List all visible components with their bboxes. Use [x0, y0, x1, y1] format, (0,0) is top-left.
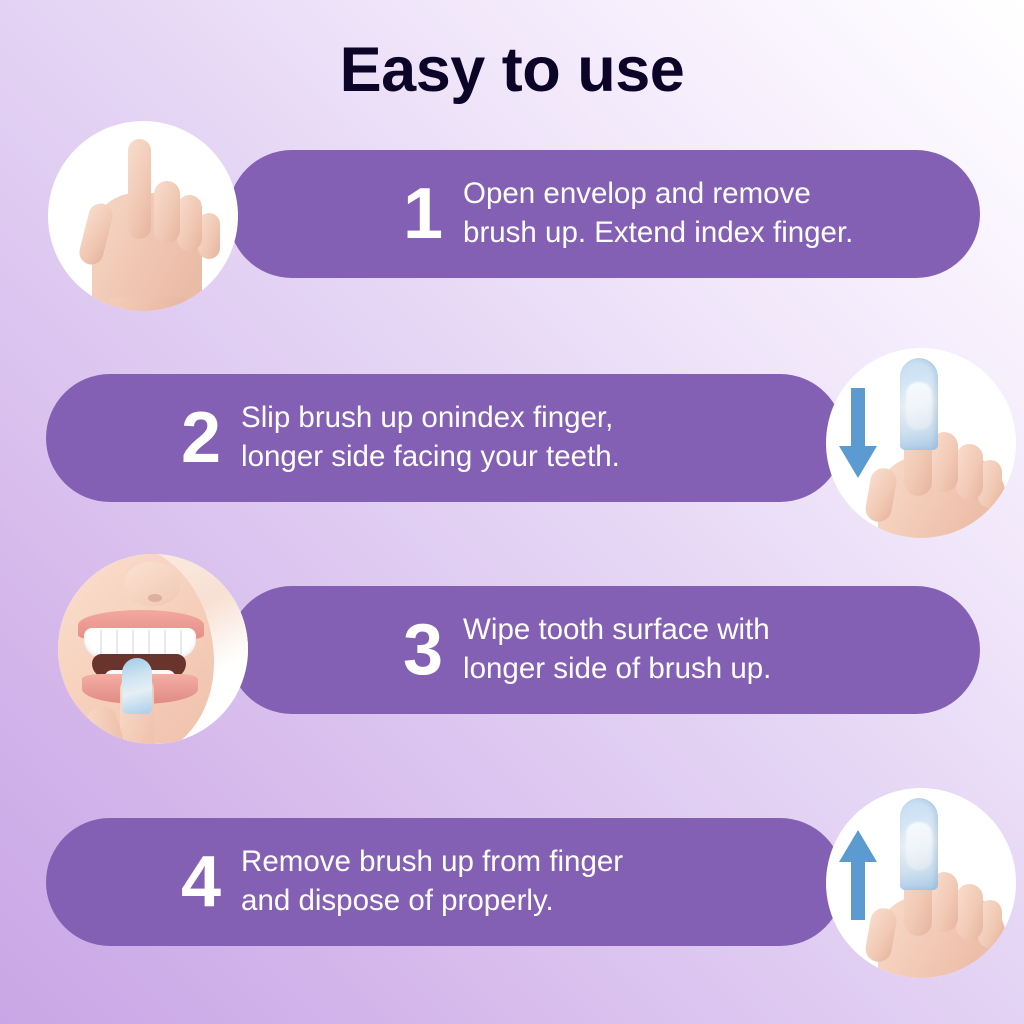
hand-index-finger-extended-photo [48, 121, 238, 311]
step-number-2: 2 [181, 402, 219, 474]
step-text-2: Slip brush up onindex finger, longer sid… [241, 399, 620, 477]
step-image-4 [826, 788, 1016, 978]
step-text-3: Wipe tooth surface with longer side of b… [463, 611, 771, 689]
page-title: Easy to use [0, 36, 1024, 105]
step-row-3: 3 Wipe tooth surface with longer side of… [0, 552, 1024, 752]
finger-with-brush-cap-up-photo [826, 788, 1016, 978]
step-row-1: 1 Open envelop and remove brush up. Exte… [0, 118, 1024, 318]
step-number-3: 3 [403, 614, 441, 686]
step-bar-2: 2 Slip brush up onindex finger, longer s… [46, 374, 844, 502]
step-bar-1: 1 Open envelop and remove brush up. Exte… [228, 150, 980, 278]
arrow-down-icon [838, 386, 878, 482]
step-number-4: 4 [181, 846, 219, 918]
step-text-1: Open envelop and remove brush up. Extend… [463, 175, 853, 253]
instructions-poster: Easy to use 1 Open envelop and remove br… [0, 0, 1024, 1024]
step-image-3 [58, 554, 248, 744]
arrow-up-icon [838, 826, 878, 922]
step-bar-4: 4 Remove brush up from finger and dispos… [46, 818, 844, 946]
step-bar-3: 3 Wipe tooth surface with longer side of… [228, 586, 980, 714]
step-text-4: Remove brush up from finger and dispose … [241, 843, 623, 921]
step-row-2: 2 Slip brush up onindex finger, longer s… [0, 340, 1024, 540]
step-number-1: 1 [403, 178, 441, 250]
mouth-wiping-teeth-photo [58, 554, 248, 744]
step-row-4: 4 Remove brush up from finger and dispos… [0, 784, 1024, 984]
step-image-2 [826, 348, 1016, 538]
finger-with-brush-cap-down-photo [826, 348, 1016, 538]
step-image-1 [48, 121, 238, 311]
